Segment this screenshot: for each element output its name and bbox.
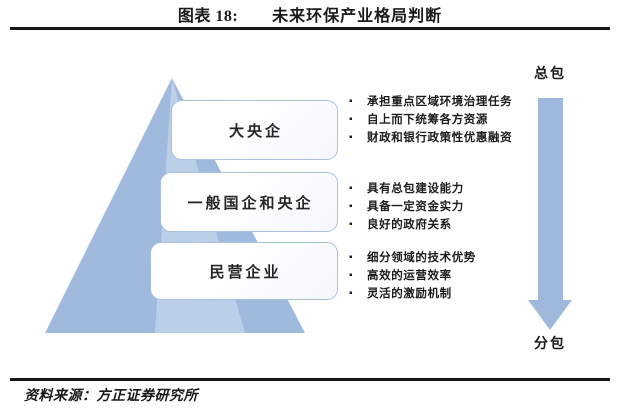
list-item: ▪ 细分领域的技术优势 <box>349 249 549 267</box>
bullet-dot-icon: ▪ <box>349 111 367 129</box>
figure-container: 图表 18:未来环保产业格局判断 大央企 一般国企和央企 民营企业 ▪ 承担重点… <box>0 0 620 409</box>
list-item: ▪ 自上而下统筹各方资源 <box>349 111 549 129</box>
figure-title-row: 图表 18:未来环保产业格局判断 <box>0 2 620 28</box>
down-arrow-icon <box>520 60 590 340</box>
bullet-dot-icon: ▪ <box>349 129 367 147</box>
bullet-group-private-enterprise: ▪ 细分领域的技术优势 ▪ 高效的运营效率 ▪ 灵活的激励机制 <box>349 249 549 303</box>
source-divider-bottom <box>10 378 610 381</box>
bullet-dot-icon: ▪ <box>349 285 367 303</box>
arrow-bottom-label: 分包 <box>505 333 595 353</box>
tier-box-general-soe[interactable]: 一般国企和央企 <box>160 172 338 232</box>
bullet-group-general-soe: ▪ 具有总包建设能力 ▪ 具备一定资金实力 ▪ 良好的政府关系 <box>349 180 549 234</box>
tier-box-private-enterprise[interactable]: 民营企业 <box>150 242 338 300</box>
source-note: 资料来源：方正证券研究所 <box>24 385 198 405</box>
tier-label: 民营企业 <box>206 261 281 282</box>
bullet-dot-icon: ▪ <box>349 216 367 234</box>
tier-label: 大央企 <box>226 120 283 141</box>
list-item: ▪ 具备一定资金实力 <box>349 198 549 216</box>
bullet-group-large-soe: ▪ 承担重点区域环境治理任务 ▪ 自上而下统筹各方资源 ▪ 财政和银行政策性优惠… <box>349 93 549 147</box>
bullet-dot-icon: ▪ <box>349 267 367 285</box>
tier-box-large-soe[interactable]: 大央企 <box>171 100 338 160</box>
list-item: ▪ 高效的运营效率 <box>349 267 549 285</box>
list-item: ▪ 承担重点区域环境治理任务 <box>349 93 549 111</box>
bullet-dot-icon: ▪ <box>349 180 367 198</box>
page-title: 未来环保产业格局判断 <box>272 2 442 26</box>
bullet-dot-icon: ▪ <box>349 249 367 267</box>
list-item: ▪ 具有总包建设能力 <box>349 180 549 198</box>
list-item: ▪ 财政和银行政策性优惠融资 <box>349 129 549 147</box>
tier-label: 一般国企和央企 <box>184 192 313 213</box>
bullet-dot-icon: ▪ <box>349 93 367 111</box>
bullet-dot-icon: ▪ <box>349 198 367 216</box>
list-item: ▪ 灵活的激励机制 <box>349 285 549 303</box>
list-item: ▪ 良好的政府关系 <box>349 216 549 234</box>
arrow-top-label: 总包 <box>505 63 595 83</box>
figure-number-label: 图表 18: <box>178 2 238 26</box>
